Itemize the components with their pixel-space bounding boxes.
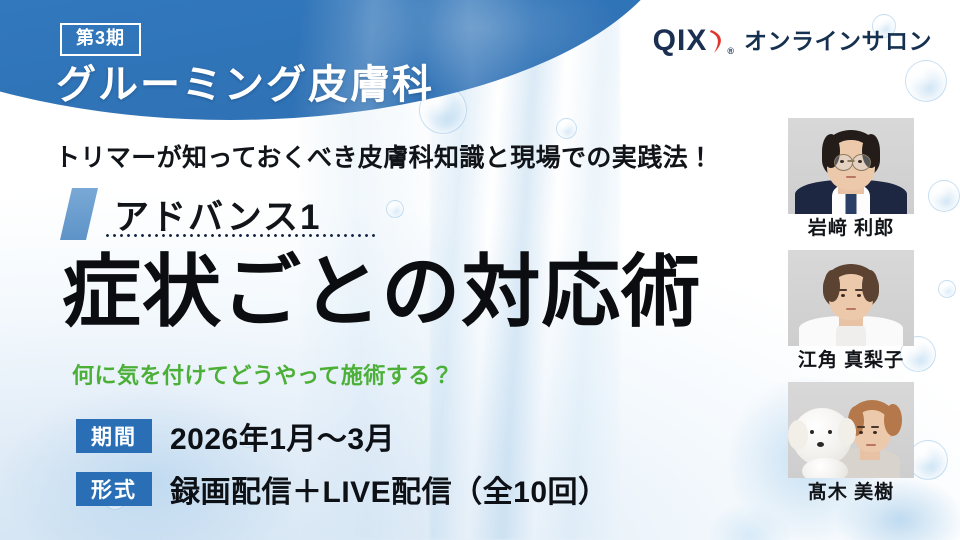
speaker-name: 髙木 美樹 [758, 481, 944, 505]
accent-bar-icon [60, 188, 98, 240]
swoosh-icon [709, 27, 726, 55]
brand-logo: QIX ® オンラインサロン [653, 26, 932, 56]
speaker-photo-esumi [788, 250, 914, 346]
registered-mark: ® [727, 47, 735, 56]
advance-label: アドバンス1 [114, 189, 322, 240]
speaker-card: 岩﨑 利郎 [758, 118, 944, 241]
question-subtitle: 何に気を付けてどうやって施術する？ [72, 358, 453, 390]
brand-sub-text: オンラインサロン [744, 30, 932, 53]
qix-wordmark: QIX ® [653, 26, 735, 56]
qix-logo-text: QIX [653, 26, 708, 56]
lead-copy: トリマーが知っておくべき皮膚科知識と現場での実践法！ [55, 138, 713, 174]
info-row: 形式 録画配信＋LIVE配信（全10回） [76, 467, 609, 511]
term-badge: 第3期 [60, 23, 141, 56]
speaker-photo-takagi [788, 382, 914, 478]
info-value-format: 録画配信＋LIVE配信（全10回） [170, 467, 609, 511]
speaker-name: 江角 真梨子 [758, 349, 944, 373]
speaker-name: 岩﨑 利郎 [758, 217, 944, 241]
speaker-card: 髙木 美樹 [758, 382, 944, 505]
bubble-icon [556, 118, 577, 139]
slide-root: 第3期 グルーミング皮膚科 QIX ® オンラインサロン トリマーが知っておくべ… [0, 0, 960, 540]
bubble-icon [905, 60, 947, 102]
info-key-format: 形式 [76, 472, 152, 506]
bubble-icon [386, 200, 404, 218]
advance-heading: アドバンス1 [66, 188, 322, 240]
page-title: 症状ごとの対応術 [62, 252, 701, 331]
speaker-card: 江角 真梨子 [758, 250, 944, 373]
info-row: 期間 2026年1月～3月 [76, 414, 609, 458]
dotted-divider [104, 234, 376, 237]
speaker-list: 岩﨑 利郎 江角 真梨子 [758, 118, 944, 513]
info-key-period: 期間 [76, 419, 152, 453]
series-title: グルーミング皮膚科 [56, 52, 434, 110]
header-banner: 第3期 グルーミング皮膚科 [0, 0, 680, 120]
info-value-period: 2026年1月～3月 [170, 414, 395, 458]
speaker-photo-iwasaki [788, 118, 914, 214]
info-list: 期間 2026年1月～3月 形式 録画配信＋LIVE配信（全10回） [76, 414, 609, 520]
